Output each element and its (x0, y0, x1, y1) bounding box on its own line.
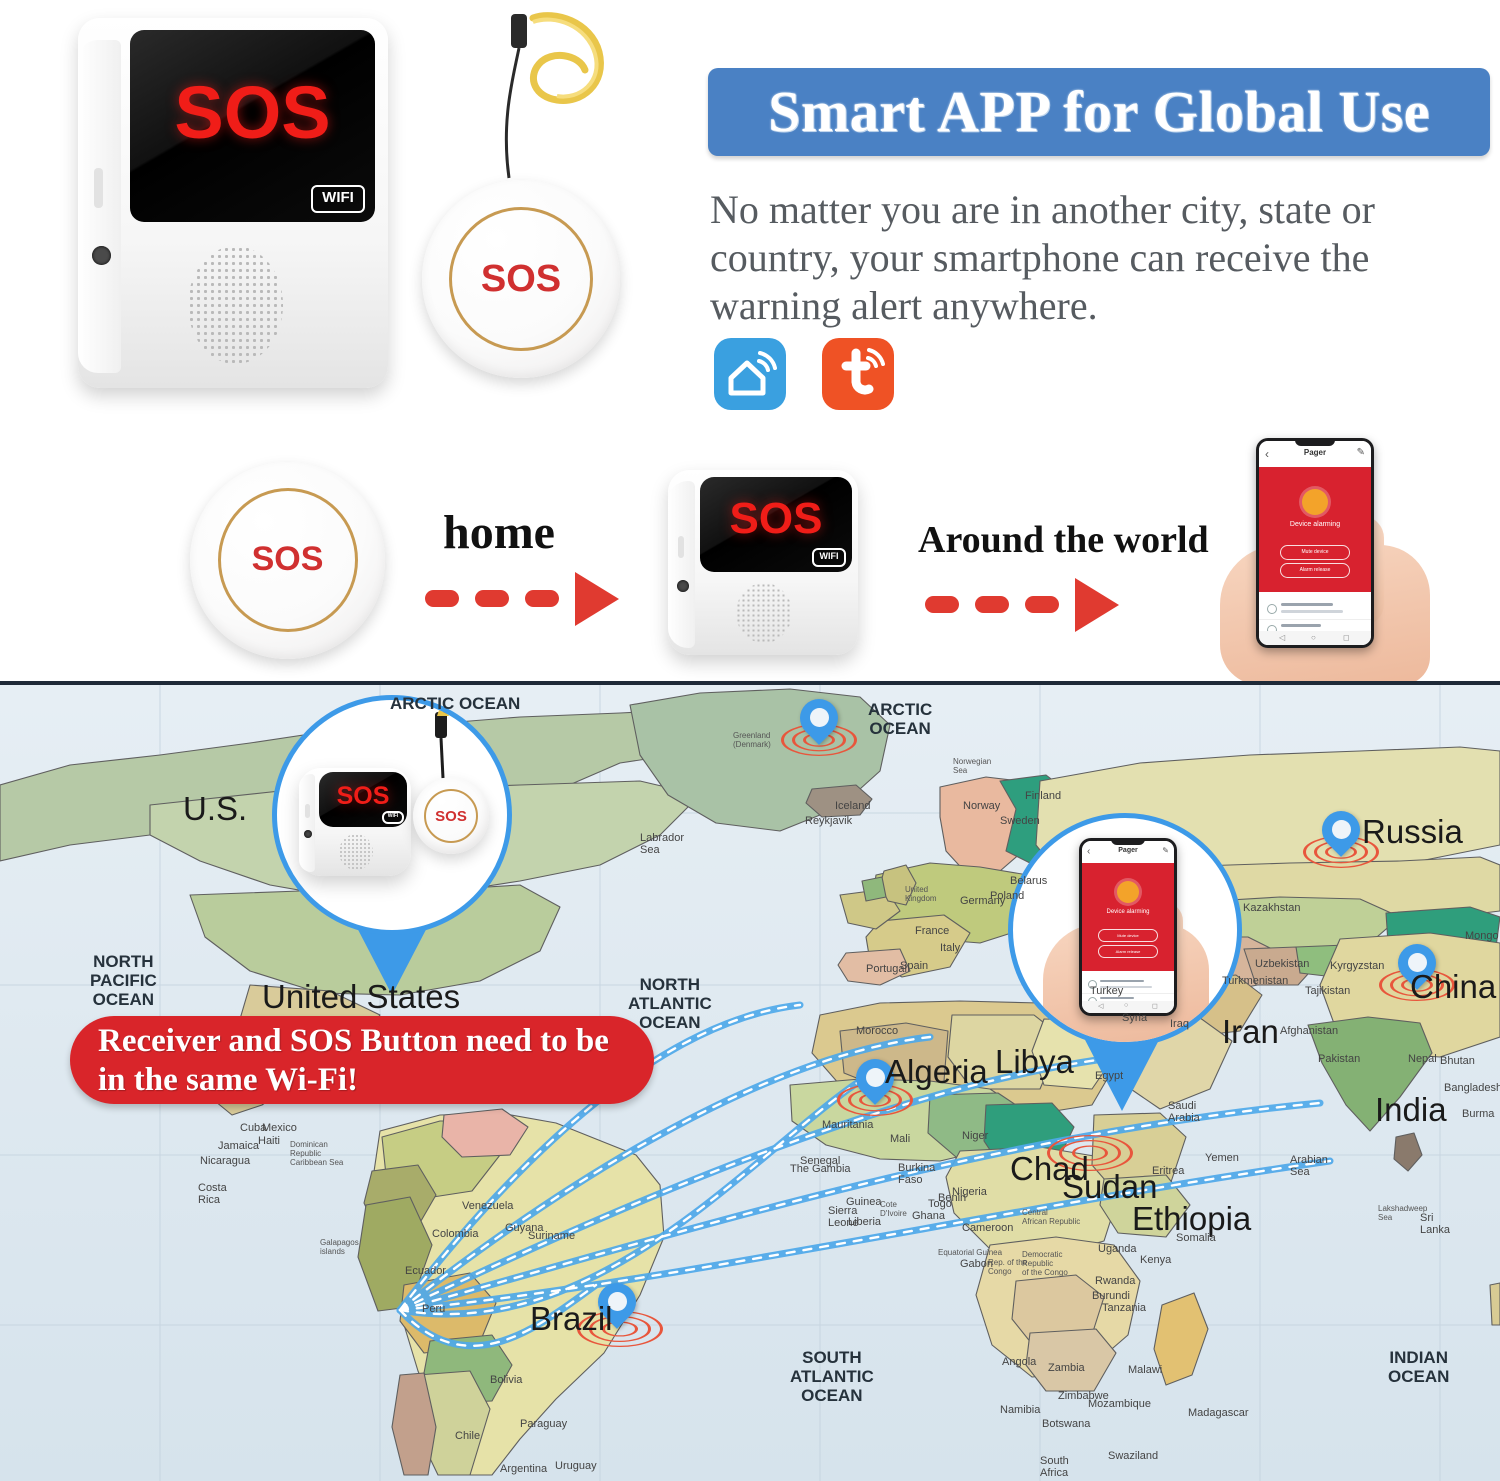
wifi-requirement-callout: Receiver and SOS Button need to be in th… (70, 1016, 654, 1104)
receiver-jack (677, 580, 689, 592)
receiver-side-button[interactable] (678, 536, 684, 558)
receiver-device-flow: SOS WIFI (668, 470, 858, 655)
sos-button-flow[interactable]: SOS (190, 462, 385, 659)
smart-life-app-icon[interactable] (714, 338, 786, 410)
app-header-title: Pager (1082, 847, 1174, 854)
phone-navbar: ◁ ○ ◻ (1082, 1001, 1174, 1013)
smartphone: ‹ Pager ✎ Device alarming Mute device Al… (1256, 438, 1374, 648)
history-icon (1267, 604, 1277, 614)
alarm-panel: Device alarming Mute device Alarm releas… (1082, 863, 1174, 971)
receiver-sos-text: SOS (319, 782, 407, 811)
app-header-title: Pager (1259, 448, 1371, 457)
mute-device-button[interactable]: Mute device (1280, 545, 1350, 560)
callout-circle: ‹ Pager ✎ Device alarming Mute device Al… (1008, 813, 1242, 1047)
phone-notch (1111, 838, 1145, 845)
product-hero-section: SOS WIFI SOS Smart APP for Global Use No… (0, 0, 1500, 683)
pin-china[interactable] (1398, 944, 1436, 994)
receiver-sos-text: SOS (130, 70, 375, 155)
nav-home-icon[interactable]: ○ (1124, 1002, 1128, 1009)
nav-back-icon[interactable]: ◁ (1098, 1002, 1103, 1010)
pin-russia[interactable] (1322, 811, 1360, 861)
receiver-side-panel (299, 774, 315, 871)
map-callout-devices: SOS WIFI SOS (272, 695, 512, 1025)
phone-screen: ‹ Pager ✎ Device alarming Mute device Al… (1259, 441, 1371, 645)
receiver-speaker-grille (188, 246, 283, 364)
receiver-screen: SOS WIFI (319, 772, 407, 827)
sos-button-large[interactable]: SOS (422, 180, 620, 378)
pin-brazil[interactable] (598, 1283, 636, 1333)
flow-step-world-label: Around the world (918, 518, 1209, 562)
pin-inner-dot (1408, 953, 1427, 972)
receiver-side-button[interactable] (305, 804, 310, 818)
edit-icon[interactable]: ✎ (1162, 846, 1169, 855)
pin-inner-dot (810, 708, 829, 727)
lanyard-cord (495, 8, 615, 188)
alarm-release-button[interactable]: Alarm release (1280, 563, 1350, 578)
hero-banner: Smart APP for Global Use (708, 68, 1490, 156)
phone-in-hand-map: ‹ Pager ✎ Device alarming Mute device Al… (1037, 832, 1217, 1042)
mute-device-button[interactable]: Mute device (1098, 929, 1158, 942)
alarm-panel: Device alarming Mute device Alarm releas… (1259, 467, 1371, 592)
pin-greenland[interactable] (800, 699, 838, 749)
smartphone: ‹ Pager ✎ Device alarming Mute device Al… (1079, 838, 1177, 1016)
phone-navbar: ◁ ○ ◻ (1259, 631, 1371, 645)
callout-circle: SOS WIFI SOS (272, 695, 512, 935)
history-icon (1088, 980, 1097, 989)
receiver-device-large: SOS WIFI (78, 18, 388, 388)
wifi-badge: WIFI (812, 548, 846, 567)
map-callout-phone: ‹ Pager ✎ Device alarming Mute device Al… (1008, 813, 1236, 1143)
alarm-status-text: Device alarming (1259, 521, 1371, 528)
receiver-side-panel (668, 481, 695, 648)
alarm-bell-icon (1117, 881, 1139, 903)
receiver-device-mini: SOS WIFI (299, 768, 411, 876)
sos-button-label: SOS (413, 808, 489, 825)
flow-step-home-label: home (443, 505, 555, 560)
receiver-screen: SOS WIFI (700, 477, 852, 572)
receiver-speaker-grille (736, 583, 792, 643)
list-item[interactable] (1259, 597, 1371, 620)
receiver-jack (92, 246, 111, 265)
sos-button-label: SOS (190, 540, 385, 579)
alarm-release-button[interactable]: Alarm release (1098, 945, 1158, 958)
flow-arrow-home (425, 572, 625, 626)
wifi-badge: WIFI (311, 185, 365, 213)
phone-notch (1295, 438, 1335, 446)
pin-algeria[interactable] (856, 1059, 894, 1109)
lanyard-cord-mini (417, 708, 473, 784)
hero-description: No matter you are in another city, state… (710, 186, 1500, 330)
pin-inner-dot (1332, 820, 1351, 839)
receiver-speaker-grille (339, 834, 373, 870)
receiver-side-button[interactable] (94, 168, 103, 208)
tuya-app-icon[interactable] (822, 338, 894, 410)
receiver-jack (304, 830, 312, 838)
nav-recents-icon[interactable]: ◻ (1343, 633, 1350, 642)
pin-inner-dot (608, 1292, 627, 1311)
page-title: Smart APP for Global Use (708, 72, 1490, 152)
phone-screen: ‹ Pager ✎ Device alarming Mute device Al… (1082, 841, 1174, 1013)
phone-in-hand-flow: ‹ Pager ✎ Device alarming Mute device Al… (1210, 430, 1450, 680)
receiver-sos-text: SOS (700, 494, 852, 544)
receiver-screen: SOS WIFI (130, 30, 375, 222)
nav-home-icon[interactable]: ○ (1311, 633, 1316, 642)
sos-button-label: SOS (422, 258, 620, 301)
flow-arrow-world (925, 578, 1125, 632)
alarm-bell-icon (1302, 489, 1328, 515)
wifi-callout-text: Receiver and SOS Button need to be in th… (98, 1022, 634, 1100)
list-item[interactable] (1082, 975, 1174, 994)
edit-icon[interactable]: ✎ (1357, 447, 1365, 458)
pin-inner-dot (866, 1068, 885, 1087)
wifi-badge: WIFI (382, 811, 404, 824)
sos-button-mini[interactable]: SOS (413, 778, 489, 854)
alarm-status-text: Device alarming (1082, 909, 1174, 915)
nav-recents-icon[interactable]: ◻ (1152, 1002, 1158, 1010)
nav-back-icon[interactable]: ◁ (1279, 633, 1285, 642)
